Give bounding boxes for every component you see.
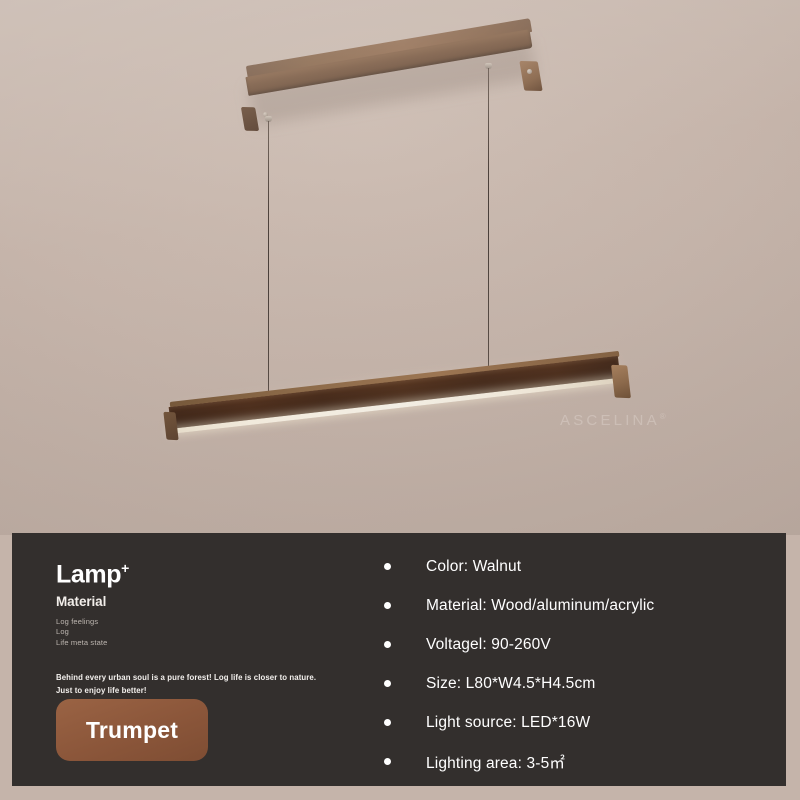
bullet-icon xyxy=(384,641,391,648)
spec-text: Light source: LED*16W xyxy=(426,714,590,732)
brand-title-plus-icon: + xyxy=(121,560,129,576)
product-photo: ASCELINA® xyxy=(0,0,800,535)
pendant-lamp-bar xyxy=(166,358,636,463)
bullet-icon xyxy=(384,680,391,687)
brand-keyword-list: Log feelings Log Life meta state xyxy=(56,617,384,647)
ceiling-beam-right-cap xyxy=(519,61,542,91)
bullet-icon xyxy=(384,563,391,570)
spec-item: Voltagel: 90-260V xyxy=(384,625,786,664)
bullet-icon xyxy=(384,602,391,609)
brand-tagline: Behind every urban soul is a pure forest… xyxy=(56,672,384,698)
spec-item: Material: Wood/aluminum/acrylic xyxy=(384,586,786,625)
product-image-card: ASCELINA® Lamp+ Material Log feelings Lo… xyxy=(0,0,800,800)
spec-item: Size: L80*W4.5*H4.5cm xyxy=(384,664,786,703)
spec-text: Size: L80*W4.5*H4.5cm xyxy=(426,675,595,693)
brand-keyword-item: Log xyxy=(56,627,384,637)
spec-text: Material: Wood/aluminum/acrylic xyxy=(426,597,654,615)
spec-item: Color: Walnut xyxy=(384,547,786,586)
brand-block: Lamp+ Material Log feelings Log Life met… xyxy=(12,533,384,786)
spec-text: Lighting area: 3-5㎡ xyxy=(426,751,565,773)
product-info-panel: Lamp+ Material Log feelings Log Life met… xyxy=(12,533,786,786)
brand-title: Lamp+ xyxy=(56,561,384,587)
ceiling-beam-screw-right xyxy=(527,69,532,74)
brand-title-text: Lamp xyxy=(56,560,121,588)
spec-item: Light source: LED*16W xyxy=(384,703,786,742)
watermark-text: ASCELINA xyxy=(560,412,660,429)
watermark-registered-icon: ® xyxy=(660,412,666,421)
trumpet-button[interactable]: Trumpet xyxy=(56,699,208,761)
suspension-cable-right xyxy=(488,68,489,373)
spec-list: Color: Walnut Material: Wood/aluminum/ac… xyxy=(384,547,786,781)
bullet-icon xyxy=(384,719,391,726)
brand-subtitle: Material xyxy=(56,594,384,609)
lamp-bar-wood-body xyxy=(169,356,621,430)
bullet-icon xyxy=(384,758,391,765)
brand-keyword-item: Log feelings xyxy=(56,617,384,627)
brand-tagline-line: Behind every urban soul is a pure forest… xyxy=(56,672,384,685)
ceiling-mount-beam xyxy=(243,36,543,136)
brand-watermark: ASCELINA® xyxy=(560,412,666,429)
brand-keyword-item: Life meta state xyxy=(56,638,384,648)
spec-item: Lighting area: 3-5㎡ xyxy=(384,742,786,781)
spec-text: Voltagel: 90-260V xyxy=(426,636,551,654)
lamp-bar-right-cap xyxy=(611,365,631,398)
spec-block: Color: Walnut Material: Wood/aluminum/ac… xyxy=(384,533,786,786)
brand-tagline-line: Just to enjoy life better! xyxy=(56,685,384,698)
spec-text: Color: Walnut xyxy=(426,558,521,576)
